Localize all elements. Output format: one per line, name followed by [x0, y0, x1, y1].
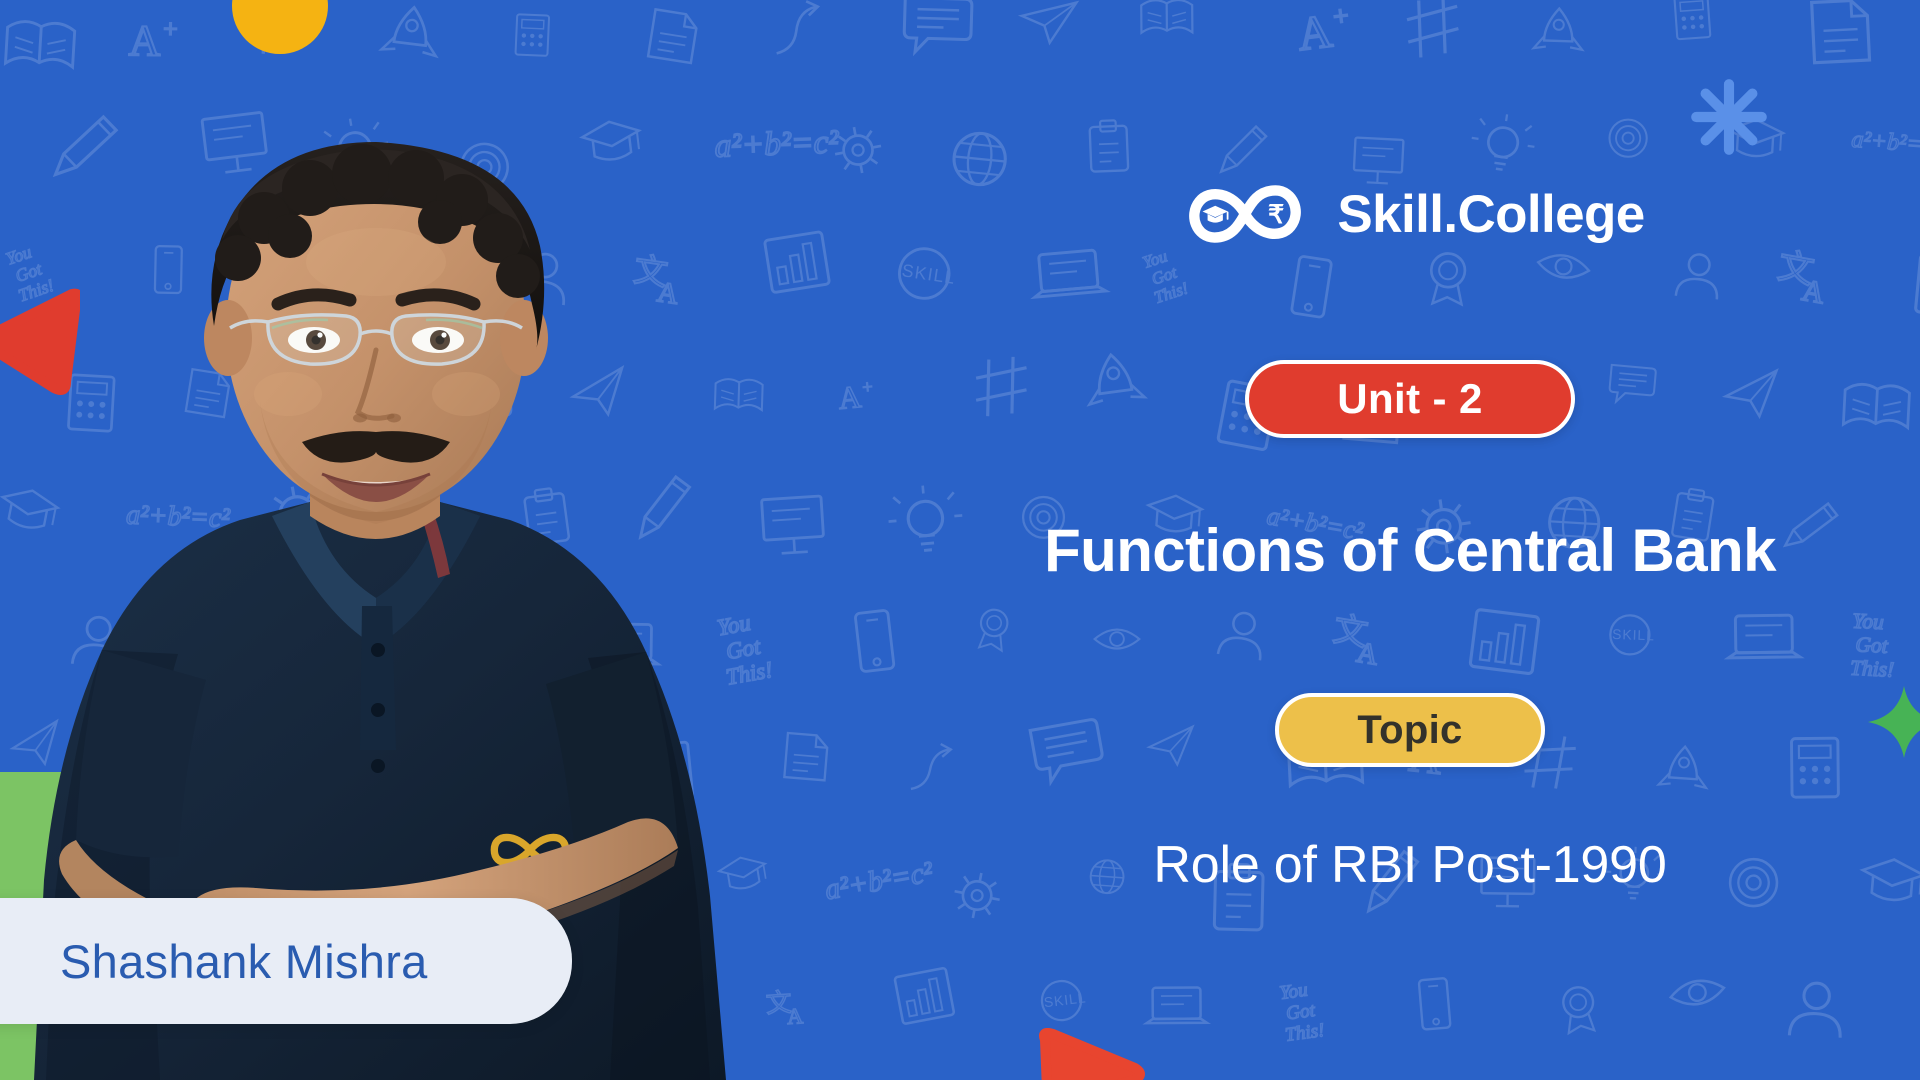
brand-logo: ₹ Skill.College	[1175, 178, 1644, 250]
brand-name: Skill.College	[1337, 184, 1644, 245]
presenter-name: Shashank Mishra	[60, 934, 428, 989]
unit-title: Functions of Central Bank	[1044, 516, 1776, 585]
lesson-title-slide: A + a²+b²=c² You Got This! S	[0, 0, 1920, 1080]
topic-badge-label: Topic	[1357, 708, 1462, 753]
topic-title: Role of RBI Post-1990	[1153, 835, 1666, 895]
circle-shape-icon	[232, 0, 328, 54]
svg-text:₹: ₹	[1268, 201, 1284, 229]
presenter-name-plate: Shashank Mishra	[0, 898, 572, 1024]
topic-badge: Topic	[1275, 693, 1545, 767]
slide-content-column: ₹ Skill.College Unit - 2 Functions of Ce…	[900, 0, 1920, 1080]
unit-badge-label: Unit - 2	[1337, 375, 1483, 423]
unit-badge: Unit - 2	[1245, 360, 1575, 438]
infinity-graduation-cap-rupee-icon: ₹	[1175, 178, 1315, 250]
